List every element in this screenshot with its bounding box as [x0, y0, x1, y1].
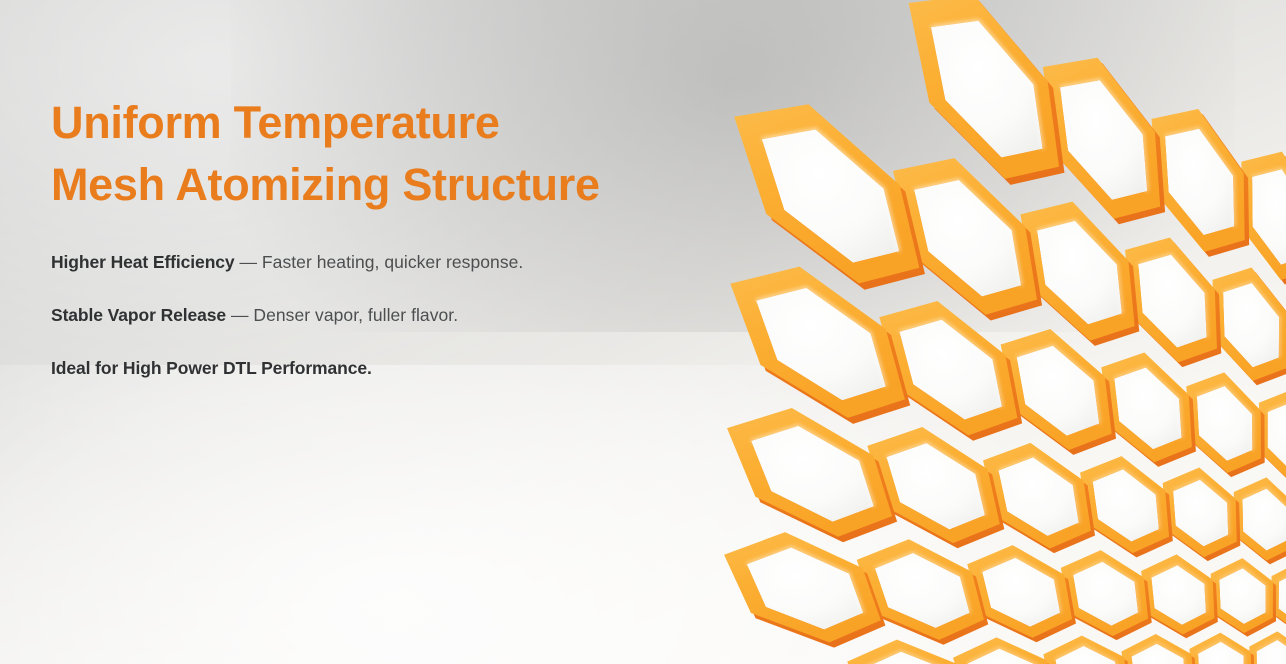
feature-item: Ideal for High Power DTL Performance. [51, 357, 651, 379]
feature-list: Higher Heat Efficiency — Faster heating,… [51, 251, 651, 379]
feature-title: Higher Heat Efficiency [51, 252, 235, 272]
background-highlight-bottom [0, 365, 1029, 664]
feature-title: Stable Vapor Release [51, 305, 226, 325]
feature-title: Ideal for High Power DTL Performance. [51, 358, 372, 378]
feature-description: — Denser vapor, fuller flavor. [226, 305, 458, 325]
headline-line-1: Uniform Temperature [51, 92, 651, 154]
feature-description: — Faster heating, quicker response. [235, 252, 524, 272]
feature-item: Higher Heat Efficiency — Faster heating,… [51, 251, 651, 273]
feature-item: Stable Vapor Release — Denser vapor, ful… [51, 304, 651, 326]
promo-banner: Uniform Temperature Mesh Atomizing Struc… [0, 0, 1286, 664]
headline-line-2: Mesh Atomizing Structure [51, 154, 651, 216]
text-content: Uniform Temperature Mesh Atomizing Struc… [51, 92, 651, 379]
